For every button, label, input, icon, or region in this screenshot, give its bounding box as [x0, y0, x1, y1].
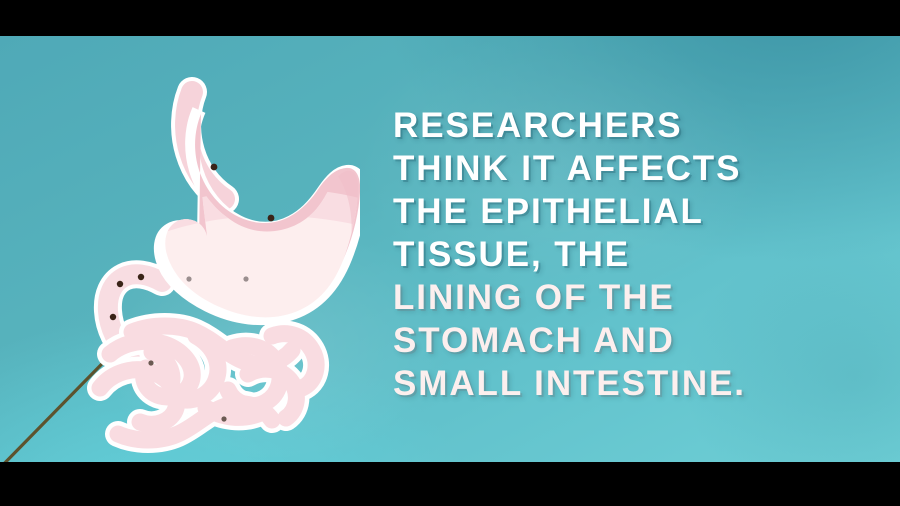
- caption-line-1: RESEARCHERS: [393, 104, 873, 147]
- caption-line-6: STOMACH AND: [393, 319, 873, 362]
- anchor-dot: [117, 281, 123, 287]
- caption-line-2: THINK IT AFFECTS: [393, 147, 873, 190]
- anchor-dot: [243, 276, 248, 281]
- video-scene: RESEARCHERS THINK IT AFFECTS THE EPITHEL…: [0, 36, 900, 462]
- stomach-illustration: [0, 36, 360, 462]
- caption-line-7: SMALL INTESTINE.: [393, 362, 873, 405]
- anchor-dot: [211, 164, 218, 171]
- anchor-dot: [148, 360, 153, 365]
- video-frame: RESEARCHERS THINK IT AFFECTS THE EPITHEL…: [0, 0, 900, 506]
- anchor-dot: [268, 215, 275, 222]
- caption-line-3: THE EPITHELIAL: [393, 190, 873, 233]
- letterbox-bar-top: [0, 0, 900, 36]
- anchor-dot: [221, 416, 226, 421]
- caption-line-5: LINING OF THE: [393, 276, 873, 319]
- caption-block: RESEARCHERS THINK IT AFFECTS THE EPITHEL…: [393, 104, 873, 405]
- caption-line-4: TISSUE, THE: [393, 233, 873, 276]
- letterbox-bar-bottom: [0, 462, 900, 506]
- anchor-dot: [138, 274, 144, 280]
- anchor-dot: [186, 276, 191, 281]
- small-intestine: [100, 326, 316, 440]
- anchor-dot: [110, 314, 116, 320]
